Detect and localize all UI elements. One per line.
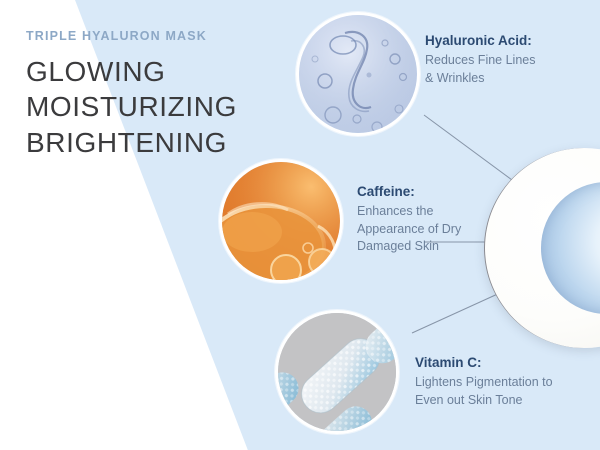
- callout-desc-line: Reduces Fine Lines: [425, 52, 535, 70]
- callout-title-text-hyaluronic-acid: Hyaluronic Acid: [425, 33, 527, 48]
- product-eyebrow-label: TRIPLE HYALURON MASK: [26, 30, 276, 43]
- skincare-infographic: TRIPLE HYALURON MASK GLOWING MOISTURIZIN…: [0, 0, 600, 450]
- vitamin-c-capsule-texture: [278, 313, 399, 434]
- ingredient-image-hyaluronic-acid: [296, 12, 420, 136]
- callout-vitamin-c: Vitamin C: Lightens Pigmentation to Even…: [415, 355, 553, 409]
- callout-title-text-caffeine: Caffeine: [357, 184, 410, 199]
- product-jar-gel-surface: [541, 182, 600, 314]
- callout-desc-line: & Wrinkles: [425, 70, 535, 88]
- ingredient-image-caffeine: [219, 159, 343, 283]
- headline-line-1: GLOWING: [26, 54, 276, 90]
- callout-desc-vitamin-c: Lightens Pigmentation to Even out Skin T…: [415, 374, 553, 410]
- callout-desc-line: Appearance of Dry: [357, 221, 461, 239]
- headline-block: TRIPLE HYALURON MASK GLOWING MOISTURIZIN…: [26, 30, 276, 160]
- callout-title-colon-hyaluronic-acid: :: [527, 33, 532, 48]
- callout-hyaluronic-acid: Hyaluronic Acid: Reduces Fine Lines & Wr…: [425, 33, 535, 87]
- hyaluronic-gel-photo: [299, 15, 417, 133]
- caffeine-oil-photo: [222, 162, 340, 280]
- callout-title-vitamin-c: Vitamin C:: [415, 355, 553, 372]
- hyaluronic-gel-texture: [299, 15, 420, 136]
- caffeine-oil-texture: [222, 162, 343, 283]
- callout-title-hyaluronic-acid: Hyaluronic Acid:: [425, 33, 535, 50]
- callout-desc-caffeine: Enhances the Appearance of Dry Damaged S…: [357, 203, 461, 256]
- headline-line-3: BRIGHTENING: [26, 125, 276, 161]
- callout-desc-line: Even out Skin Tone: [415, 392, 553, 410]
- callout-desc-line: Enhances the: [357, 203, 461, 221]
- page-title: GLOWING MOISTURIZING BRIGHTENING: [26, 54, 276, 161]
- callout-desc-line: Damaged Skin: [357, 238, 461, 256]
- callout-desc-hyaluronic-acid: Reduces Fine Lines & Wrinkles: [425, 52, 535, 88]
- callout-title-caffeine: Caffeine:: [357, 184, 461, 201]
- ingredient-image-vitamin-c: [275, 310, 399, 434]
- vitamin-c-capsules-photo: [278, 313, 396, 431]
- headline-line-2: MOISTURIZING: [26, 89, 276, 125]
- callout-title-colon-caffeine: :: [410, 184, 415, 199]
- callout-caffeine: Caffeine: Enhances the Appearance of Dry…: [357, 184, 461, 256]
- callout-title-text-vitamin-c: Vitamin C: [415, 355, 477, 370]
- callout-desc-line: Lightens Pigmentation to: [415, 374, 553, 392]
- callout-title-colon-vitamin-c: :: [477, 355, 482, 370]
